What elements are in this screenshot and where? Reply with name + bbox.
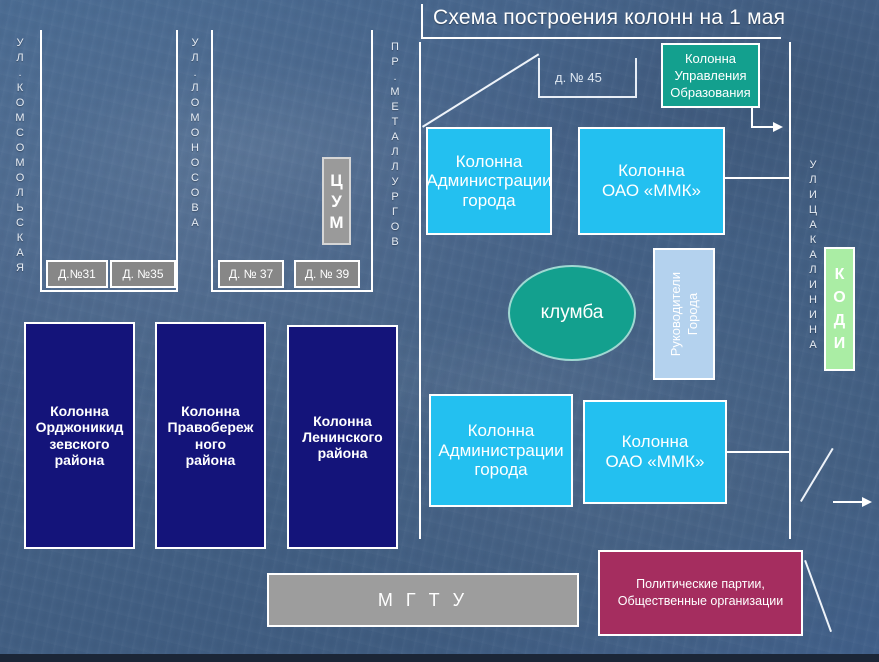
street-label-kalinina: У Л И Ц А К А Л И Н И Н А: [806, 158, 820, 353]
street-letter: Г: [388, 205, 402, 220]
street-letter: О: [13, 96, 27, 111]
street-letter: О: [188, 96, 202, 111]
mmk-bottom-connector: [727, 451, 789, 453]
street-letter: Л: [188, 51, 202, 66]
street-letter: Я: [13, 261, 27, 276]
house45-bottom-bracket: [538, 96, 636, 98]
lomonosova-left-edge: [211, 30, 213, 292]
komsomolskaya-bottom-edge: [40, 290, 178, 292]
street-letter: У: [13, 36, 27, 51]
street-letter: У: [388, 175, 402, 190]
kodi-letter: Д: [834, 309, 845, 332]
street-letter: И: [806, 308, 820, 323]
street-letter: И: [806, 278, 820, 293]
diagonal-guide-line: [422, 53, 539, 127]
street-letter: .: [13, 66, 27, 81]
column-leninsky: Колонна Ленинского района: [287, 325, 398, 549]
political-parties-box: Политические партии, Общественные органи…: [598, 550, 803, 636]
komsomolskaya-right-edge: [176, 30, 178, 292]
column-upravlenie-obrazovaniya: Колонна Управления Образования: [661, 43, 760, 108]
street-letter: К: [13, 231, 27, 246]
cum-letter: Ц: [330, 170, 342, 191]
bottom-bar: [0, 654, 879, 662]
street-letter: Т: [388, 115, 402, 130]
street-letter: В: [188, 201, 202, 216]
street-letter: О: [13, 141, 27, 156]
bottom-diagonal-line: [800, 448, 833, 502]
street-label-lomonosova: У Л . Л О М О Н О С О В А: [188, 36, 202, 231]
street-letter: В: [388, 235, 402, 250]
street-letter: .: [388, 70, 402, 85]
street-letter: М: [13, 111, 27, 126]
house-box-31: Д.№31: [46, 260, 108, 288]
kodi-letter: К: [835, 263, 845, 286]
street-label-komsomolskaya: У Л . К О М С О М О Л Ь С К А Я: [13, 36, 27, 276]
title-left-rule: [421, 4, 423, 39]
house-box-35: Д. №35: [110, 260, 176, 288]
street-letter: С: [13, 126, 27, 141]
house-box-39: Д. № 39: [294, 260, 360, 288]
street-letter: А: [188, 216, 202, 231]
street-letter: Н: [806, 293, 820, 308]
street-letter: А: [388, 130, 402, 145]
street-letter: К: [13, 81, 27, 96]
kodi-letter: О: [833, 286, 845, 309]
street-letter: О: [188, 126, 202, 141]
cum-building: Ц У М: [322, 157, 351, 245]
street-letter: М: [388, 85, 402, 100]
city-leaders-label: Руководители Города: [667, 272, 701, 356]
street-letter: А: [806, 248, 820, 263]
street-letter: А: [806, 218, 820, 233]
komsomolskaya-left-edge: [40, 30, 42, 292]
street-letter: Л: [806, 263, 820, 278]
street-letter: Ц: [806, 203, 820, 218]
column-mmk-top: Колонна ОАО «ММК»: [578, 127, 725, 235]
house-box-37: Д. № 37: [218, 260, 284, 288]
upravlenie-arrow-shaft: [751, 126, 775, 128]
page-title: Схема построения колонн на 1 мая: [433, 6, 785, 30]
lomonosova-bottom-edge: [211, 290, 373, 292]
column-administration-top: Колонна Администрации города: [426, 127, 552, 235]
street-letter: Л: [388, 160, 402, 175]
slide-canvas: Схема построения колонн на 1 мая У Л . К…: [0, 0, 879, 662]
political-diagonal-line: [805, 560, 832, 632]
street-letter: П: [388, 40, 402, 55]
cum-letter: М: [329, 212, 343, 233]
kodi-box: К О Д И: [824, 247, 855, 371]
cum-letter: У: [331, 191, 342, 212]
kodi-letter: И: [834, 332, 846, 355]
street-letter: С: [13, 216, 27, 231]
lomonosova-right-edge: [371, 30, 373, 292]
street-letter: Л: [188, 81, 202, 96]
street-letter: О: [188, 156, 202, 171]
street-letter: Н: [806, 323, 820, 338]
street-letter: У: [188, 36, 202, 51]
house45-left-bracket: [538, 58, 540, 98]
street-letter: С: [188, 171, 202, 186]
street-letter: У: [806, 158, 820, 173]
street-letter: М: [188, 111, 202, 126]
mgtu-box: М Г Т У: [267, 573, 579, 627]
street-letter: А: [806, 338, 820, 353]
house45-label: д. № 45: [555, 70, 602, 85]
street-letter: .: [188, 66, 202, 81]
street-label-metallurgov: П Р . М Е Т А Л Л У Р Г О В: [388, 40, 402, 250]
upravlenie-connector-line: [751, 108, 753, 128]
title-bottom-rule: [421, 37, 781, 39]
house45-right-bracket: [635, 58, 637, 98]
street-letter: А: [13, 246, 27, 261]
street-letter: Ь: [13, 201, 27, 216]
street-letter: Л: [13, 186, 27, 201]
street-letter: Л: [806, 173, 820, 188]
metallurgov-left-edge: [419, 42, 421, 539]
street-letter: О: [13, 171, 27, 186]
street-letter: Р: [388, 190, 402, 205]
street-letter: О: [188, 186, 202, 201]
column-administration-bottom: Колонна Администрации города: [429, 394, 573, 507]
city-leaders-box: Руководители Города: [653, 248, 715, 380]
street-letter: Л: [388, 145, 402, 160]
column-mmk-bottom: Колонна ОАО «ММК»: [583, 400, 727, 504]
street-letter: И: [806, 188, 820, 203]
street-letter: Р: [388, 55, 402, 70]
column-ordzhonikidzevsky: Колонна Орджоникид зевского района: [24, 322, 135, 549]
street-letter: К: [806, 233, 820, 248]
bottom-arrow-head: [862, 497, 872, 507]
street-letter: Л: [13, 51, 27, 66]
street-letter: О: [388, 220, 402, 235]
street-letter: М: [13, 156, 27, 171]
mmk-top-connector: [725, 177, 789, 179]
street-letter: Е: [388, 100, 402, 115]
metallurgov-right-edge: [789, 42, 791, 539]
upravlenie-arrow-head: [773, 122, 783, 132]
column-pravoberezhny: Колонна Правобереж ного района: [155, 322, 266, 549]
flowerbed-klumba: клумба: [508, 265, 636, 361]
street-letter: Н: [188, 141, 202, 156]
